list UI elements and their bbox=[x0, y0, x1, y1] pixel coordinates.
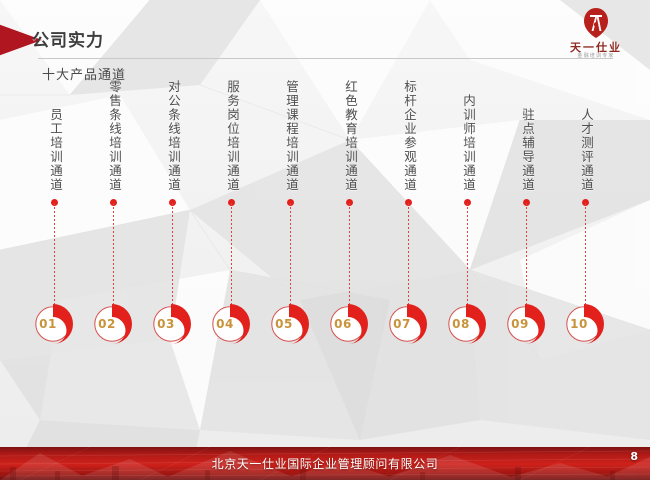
channel-number-text: 04 bbox=[208, 300, 256, 348]
channel-label-text: 人才测评通道 bbox=[579, 108, 593, 192]
channel-item[interactable]: 员工培训通道01 bbox=[26, 0, 84, 440]
channel-label-text: 服务岗位培训通道 bbox=[225, 80, 239, 192]
channel-number-text: 10 bbox=[562, 300, 610, 348]
channel-label: 驻点辅导通道 bbox=[498, 108, 556, 192]
channel-dotted-connector bbox=[290, 203, 291, 315]
channel-item[interactable]: 零售条线培训通道02 bbox=[85, 0, 143, 440]
channel-dotted-connector bbox=[585, 203, 586, 315]
channel-label-text: 对公条线培训通道 bbox=[166, 80, 180, 192]
channel-number-text: 01 bbox=[31, 300, 79, 348]
channel-number-marker[interactable]: 01 bbox=[31, 300, 79, 348]
channel-number-text: 03 bbox=[149, 300, 197, 348]
channel-item[interactable]: 红色教育培训通道06 bbox=[321, 0, 379, 440]
channel-label-text: 零售条线培训通道 bbox=[107, 80, 121, 192]
channel-number-text: 05 bbox=[267, 300, 315, 348]
channel-number-text: 02 bbox=[90, 300, 138, 348]
channel-dotted-connector bbox=[408, 203, 409, 315]
channel-item[interactable]: 人才测评通道10 bbox=[557, 0, 615, 440]
channel-item[interactable]: 服务岗位培训通道04 bbox=[203, 0, 261, 440]
channel-label-text: 驻点辅导通道 bbox=[520, 108, 534, 192]
channel-item[interactable]: 内训师培训通道08 bbox=[439, 0, 497, 440]
channel-number-marker[interactable]: 07 bbox=[385, 300, 433, 348]
channel-number-text: 09 bbox=[503, 300, 551, 348]
channel-label: 红色教育培训通道 bbox=[321, 80, 379, 192]
channel-label: 零售条线培训通道 bbox=[85, 80, 143, 192]
channel-label: 服务岗位培训通道 bbox=[203, 80, 261, 192]
channel-dotted-connector bbox=[172, 203, 173, 315]
footer-company-name: 北京天一仕业国际企业管理顾问有限公司 bbox=[0, 447, 650, 480]
channel-item[interactable]: 对公条线培训通道03 bbox=[144, 0, 202, 440]
page-number: 8 bbox=[630, 450, 638, 463]
channel-dotted-connector bbox=[349, 203, 350, 315]
channel-dotted-connector bbox=[231, 203, 232, 315]
channel-number-marker[interactable]: 09 bbox=[503, 300, 551, 348]
channel-list: 员工培训通道01零售条线培训通道02对公条线培训通道03服务岗位培训通道04管理… bbox=[0, 0, 650, 440]
channel-number-marker[interactable]: 03 bbox=[149, 300, 197, 348]
channel-label: 标杆企业参观通道 bbox=[380, 80, 438, 192]
channel-number-text: 07 bbox=[385, 300, 433, 348]
channel-number-marker[interactable]: 05 bbox=[267, 300, 315, 348]
channel-number-marker[interactable]: 02 bbox=[90, 300, 138, 348]
channel-number-marker[interactable]: 06 bbox=[326, 300, 374, 348]
channel-dotted-connector bbox=[54, 203, 55, 315]
channel-item[interactable]: 标杆企业参观通道07 bbox=[380, 0, 438, 440]
channel-item[interactable]: 管理课程培训通道05 bbox=[262, 0, 320, 440]
channel-label-text: 管理课程培训通道 bbox=[284, 80, 298, 192]
channel-label: 员工培训通道 bbox=[26, 108, 84, 192]
channel-number-marker[interactable]: 10 bbox=[562, 300, 610, 348]
channel-label: 管理课程培训通道 bbox=[262, 80, 320, 192]
channel-dotted-connector bbox=[113, 203, 114, 315]
slide-footer: 北京天一仕业国际企业管理顾问有限公司 8 bbox=[0, 447, 650, 480]
channel-label-text: 员工培训通道 bbox=[48, 108, 62, 192]
channel-label: 对公条线培训通道 bbox=[144, 80, 202, 192]
channel-number-text: 06 bbox=[326, 300, 374, 348]
slide-canvas: 公司实力 十大产品通道 天一仕业 金融培训专家 员工培训通道01零售条线培训通道… bbox=[0, 0, 650, 480]
channel-label-text: 标杆企业参观通道 bbox=[402, 80, 416, 192]
channel-label-text: 红色教育培训通道 bbox=[343, 80, 357, 192]
channel-number-marker[interactable]: 08 bbox=[444, 300, 492, 348]
channel-dotted-connector bbox=[526, 203, 527, 315]
channel-dotted-connector bbox=[467, 203, 468, 315]
channel-label: 人才测评通道 bbox=[557, 108, 615, 192]
channel-label-text: 内训师培训通道 bbox=[461, 94, 475, 192]
channel-number-marker[interactable]: 04 bbox=[208, 300, 256, 348]
channel-number-text: 08 bbox=[444, 300, 492, 348]
channel-label: 内训师培训通道 bbox=[439, 94, 497, 192]
channel-item[interactable]: 驻点辅导通道09 bbox=[498, 0, 556, 440]
